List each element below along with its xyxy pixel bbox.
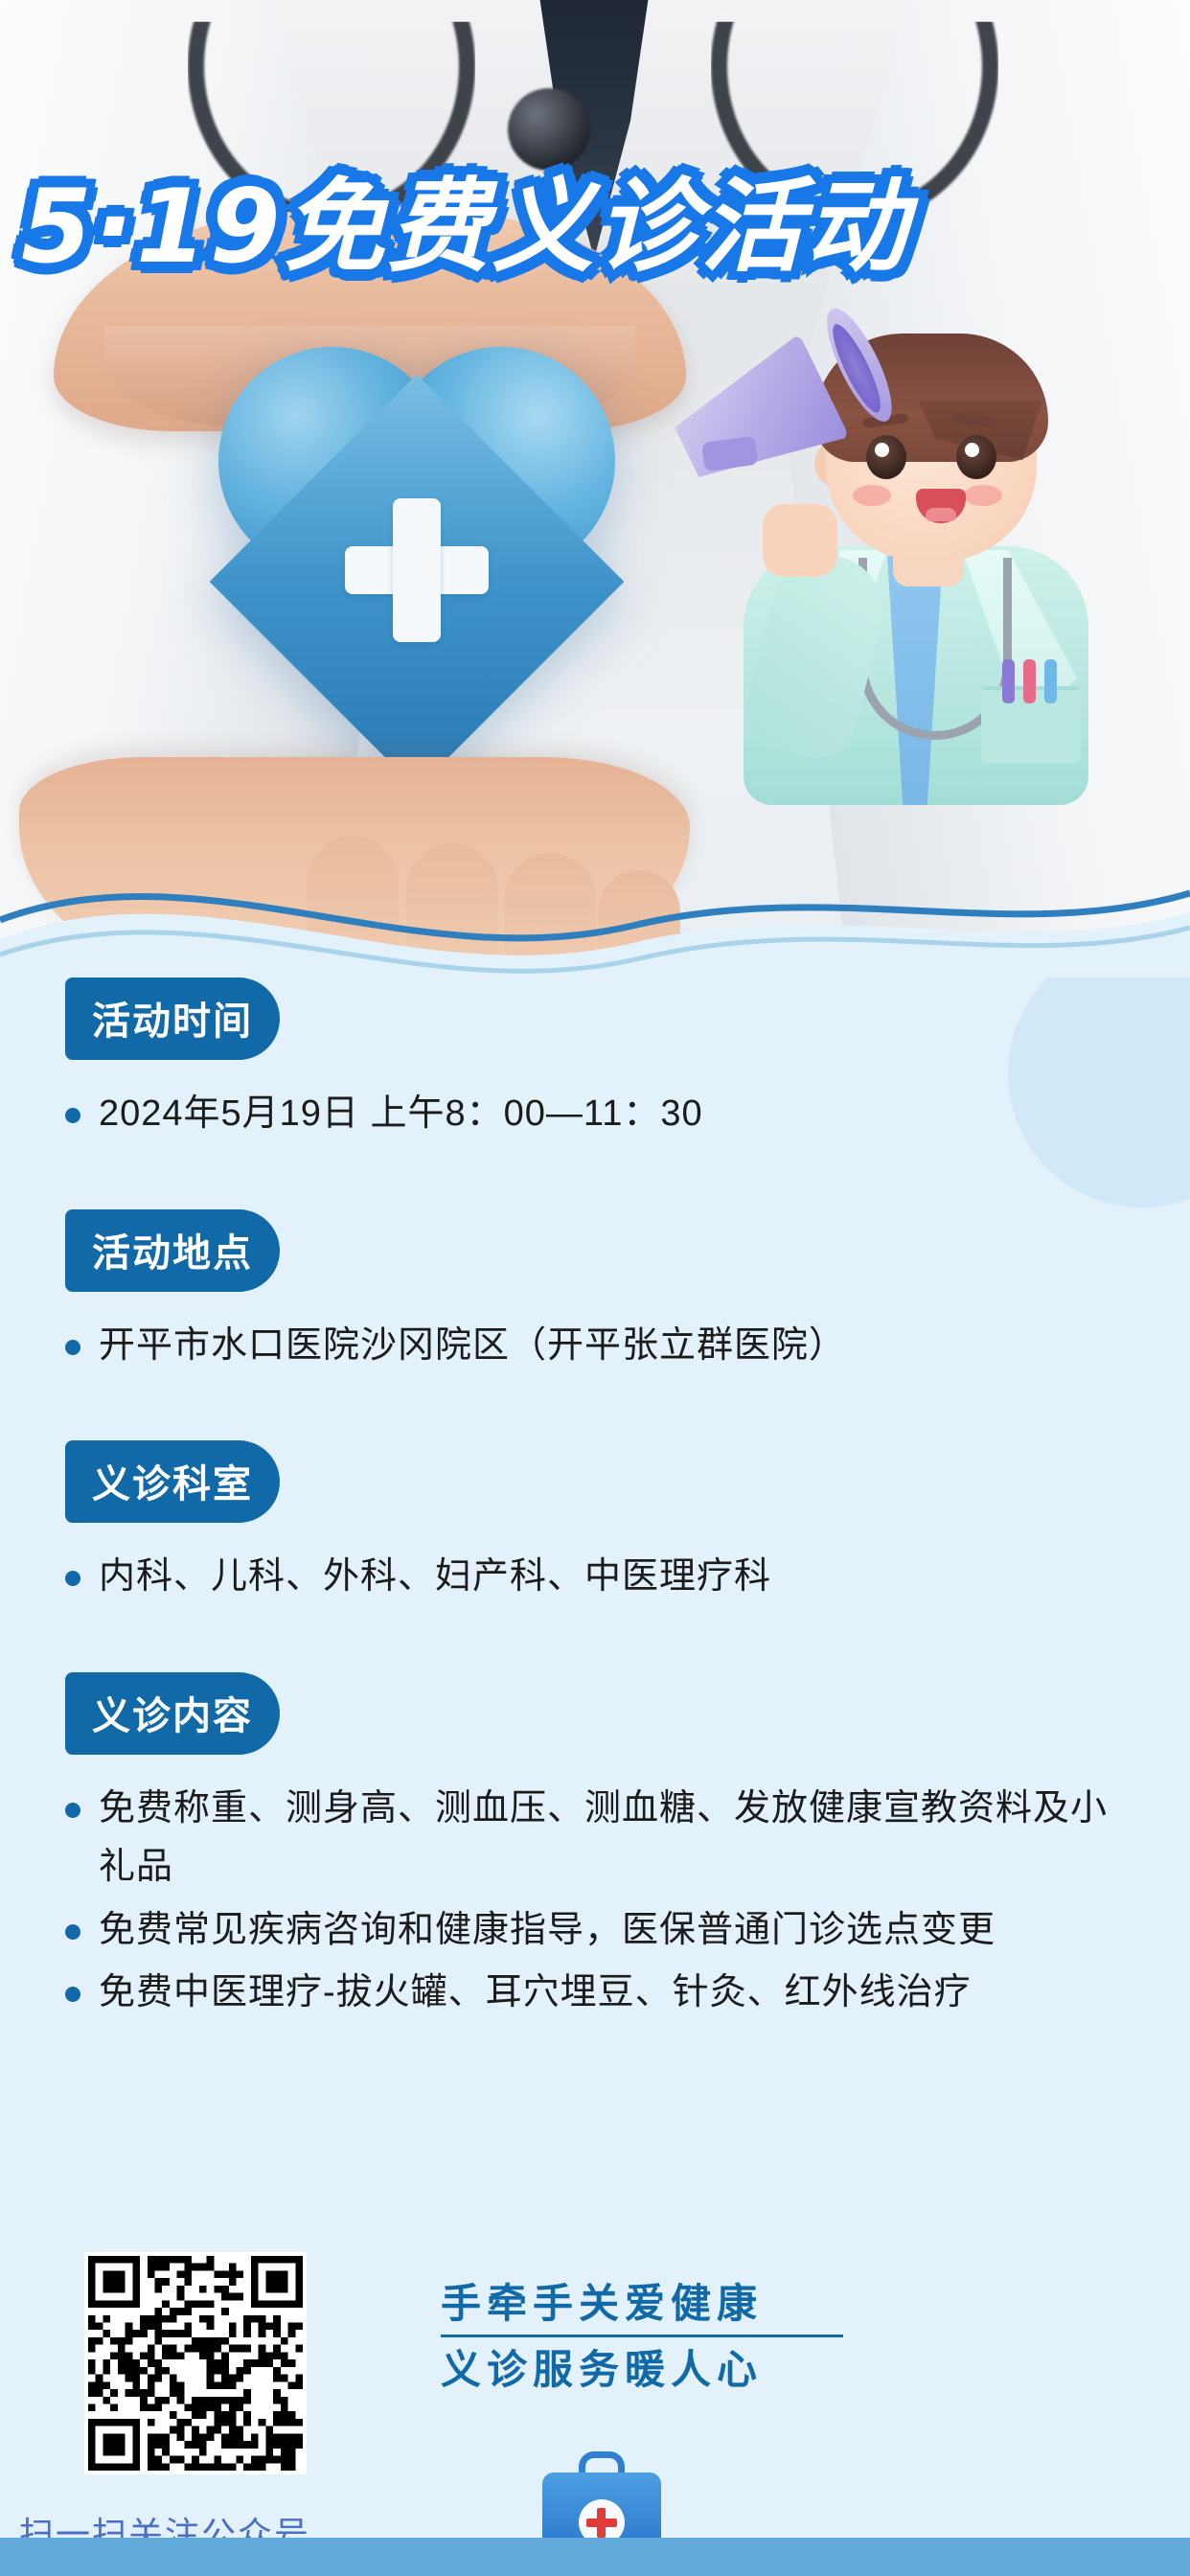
bullet-dot-icon [65, 1924, 80, 1940]
list-item: 2024年5月19日 上午8：00—11：30 [65, 1085, 1129, 1144]
heart-graphic [218, 347, 615, 730]
section-items-services: 免费称重、测身高、测血压、测血糖、发放健康宣教资料及小礼品 免费常见疾病咨询和健… [65, 1780, 1190, 2023]
list-item-text: 免费常见疾病咨询和健康指导，医保普通门诊选点变更 [99, 1901, 1129, 1961]
bullet-dot-icon [65, 1987, 80, 2002]
list-item-text: 内科、儿科、外科、妇产科、中医理疗科 [99, 1548, 1129, 1607]
slogan-line-2: 义诊服务暖人心 [441, 2343, 843, 2397]
poster-root: 5·19免费义诊活动 活动时间 2024年5月19日 上午8：00—11：30 … [0, 0, 1190, 2576]
section-badge-services: 义诊内容 [65, 1672, 280, 1755]
list-item: 免费称重、测身高、测血压、测血糖、发放健康宣教资料及小礼品 [65, 1780, 1129, 1897]
footer: 扫一扫关注公众号 手牵手关爱健康 义诊服务暖人心 [0, 2242, 1190, 2576]
doctor-hand [763, 504, 837, 577]
medical-cross-icon [345, 498, 489, 642]
section-items-activity-location: 开平市水口医院沙冈院区（开平张立群医院） [65, 1317, 1190, 1376]
section-badge-departments: 义诊科室 [65, 1440, 280, 1523]
slogan: 手牵手关爱健康 义诊服务暖人心 [441, 2277, 843, 2398]
section-badge-activity-location: 活动地点 [65, 1209, 280, 1292]
footer-bar [0, 2538, 1190, 2576]
cartoon-doctor [671, 316, 1169, 795]
section-services: 义诊内容 免费称重、测身高、测血压、测血糖、发放健康宣教资料及小礼品 免费常见疾… [0, 1672, 1190, 2023]
bullet-dot-icon [65, 1803, 80, 1818]
list-item: 免费中医理疗-拔火罐、耳穴埋豆、针灸、红外线治疗 [65, 1964, 1129, 2023]
doctor-blush-right [964, 485, 1002, 506]
bullet-dot-icon [65, 1340, 80, 1355]
slogan-line-1: 手牵手关爱健康 [441, 2277, 843, 2331]
doctor-eye-left [866, 435, 906, 479]
section-activity-time: 活动时间 2024年5月19日 上午8：00—11：30 [0, 977, 1190, 1144]
doctor-eye-right [956, 435, 996, 479]
section-items-departments: 内科、儿科、外科、妇产科、中医理疗科 [65, 1548, 1190, 1607]
bullet-dot-icon [65, 1108, 80, 1123]
list-item-text: 免费称重、测身高、测血压、测血糖、发放健康宣教资料及小礼品 [99, 1780, 1129, 1897]
list-item-text: 开平市水口医院沙冈院区（开平张立群医院） [99, 1317, 1129, 1376]
list-item-text: 2024年5月19日 上午8：00—11：30 [99, 1085, 1129, 1144]
list-item: 内科、儿科、外科、妇产科、中医理疗科 [65, 1548, 1129, 1607]
list-item-text: 免费中医理疗-拔火罐、耳穴埋豆、针灸、红外线治疗 [99, 1964, 1129, 2023]
section-items-activity-time: 2024年5月19日 上午8：00—11：30 [65, 1085, 1190, 1144]
doctor-pocket [981, 686, 1081, 763]
section-activity-location: 活动地点 开平市水口医院沙冈院区（开平张立群医院） [0, 1209, 1190, 1376]
wave-divider [0, 851, 1190, 977]
qr-code[interactable] [84, 2252, 307, 2474]
bullet-dot-icon [65, 1571, 80, 1586]
section-departments: 义诊科室 内科、儿科、外科、妇产科、中医理疗科 [0, 1440, 1190, 1607]
content-area: 活动时间 2024年5月19日 上午8：00—11：30 活动地点 开平市水口医… [0, 977, 1190, 2027]
page-title: 5·19免费义诊活动 [21, 144, 910, 291]
section-badge-activity-time: 活动时间 [65, 977, 280, 1060]
list-item: 免费常见疾病咨询和健康指导，医保普通门诊选点变更 [65, 1901, 1129, 1961]
doctor-blush-left [853, 485, 891, 506]
list-item: 开平市水口医院沙冈院区（开平张立群医院） [65, 1317, 1129, 1376]
slogan-divider [441, 2334, 843, 2337]
